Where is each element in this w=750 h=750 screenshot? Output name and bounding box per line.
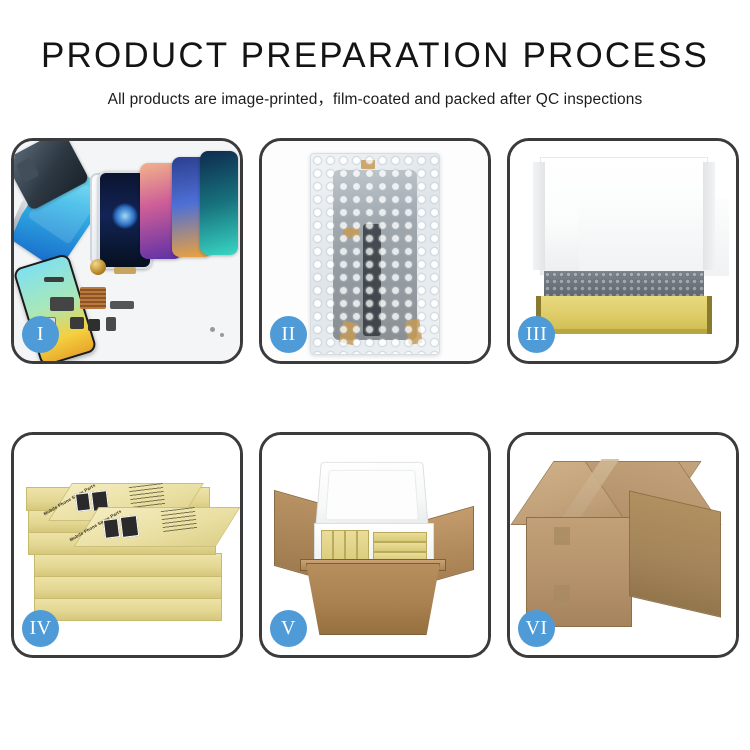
step-badge-1: I: [22, 316, 59, 353]
box-swatch-icon: [75, 492, 91, 512]
kraft-box-front-icon: [536, 296, 712, 334]
box-spec-lines: [129, 483, 165, 509]
carton-seam-icon: [554, 585, 570, 603]
step-badge-4: IV: [22, 610, 59, 647]
foam-lid-icon: [540, 157, 708, 275]
box-stack-icon: Mobile Phone Spare Parts Mobile Phone Sp…: [26, 449, 226, 645]
process-steps-grid: I II III: [0, 138, 750, 658]
foam-lid-open-icon: [315, 462, 429, 532]
chip-grid-part-icon: [80, 287, 106, 309]
step-badge-2: II: [270, 316, 307, 353]
box-spec-lines: [161, 507, 197, 533]
carton-side-face: [629, 490, 721, 617]
carton-seam-icon: [554, 527, 570, 545]
vibrator-part-icon: [88, 319, 100, 331]
stacked-box-layer: [34, 575, 222, 599]
phone-teal-icon: [200, 151, 238, 255]
top-box-face: [74, 507, 240, 547]
page-header: PRODUCT PREPARATION PROCESS All products…: [0, 0, 750, 109]
stacked-box-layer: [34, 597, 222, 621]
box-swatch-icon: [103, 518, 120, 539]
step-badge-5: V: [270, 610, 307, 647]
screw-part-icon: [210, 327, 215, 332]
connector-bar-part-icon: [44, 277, 64, 282]
inner-box-icon: [373, 542, 427, 552]
carton-body-icon: [306, 563, 440, 635]
step-panel-1: I: [11, 138, 243, 364]
step-badge-3: III: [518, 316, 555, 353]
foam-inner-surface: [579, 198, 729, 276]
page-title: PRODUCT PREPARATION PROCESS: [0, 38, 750, 73]
button-part-icon: [106, 317, 116, 331]
flex-cable-part-icon: [114, 267, 136, 274]
bubble-wrap-bag-icon: [310, 153, 440, 355]
step-panel-4: Mobile Phone Spare Parts Mobile Phone Sp…: [11, 432, 243, 658]
step-panel-6: VI: [507, 432, 739, 658]
bracket-part-icon: [50, 297, 74, 311]
box-swatch-icon: [120, 515, 139, 538]
stacked-box-layer: [34, 553, 222, 577]
bubble-texture-overlay: [311, 154, 439, 354]
screw-part-icon: [220, 333, 224, 337]
inner-box-icon: [373, 532, 427, 542]
camera-module-part-icon: [70, 317, 84, 329]
page-subtitle: All products are image-printed，film-coat…: [0, 87, 750, 109]
ribbon-cable-part-icon: [110, 301, 134, 309]
speaker-coil-part-icon: [90, 259, 106, 275]
step-badge-6: VI: [518, 610, 555, 647]
step-panel-3: III: [507, 138, 739, 364]
step-panel-2: II: [259, 138, 491, 364]
bubble-padding-icon: [544, 271, 704, 297]
step-panel-5: V: [259, 432, 491, 658]
